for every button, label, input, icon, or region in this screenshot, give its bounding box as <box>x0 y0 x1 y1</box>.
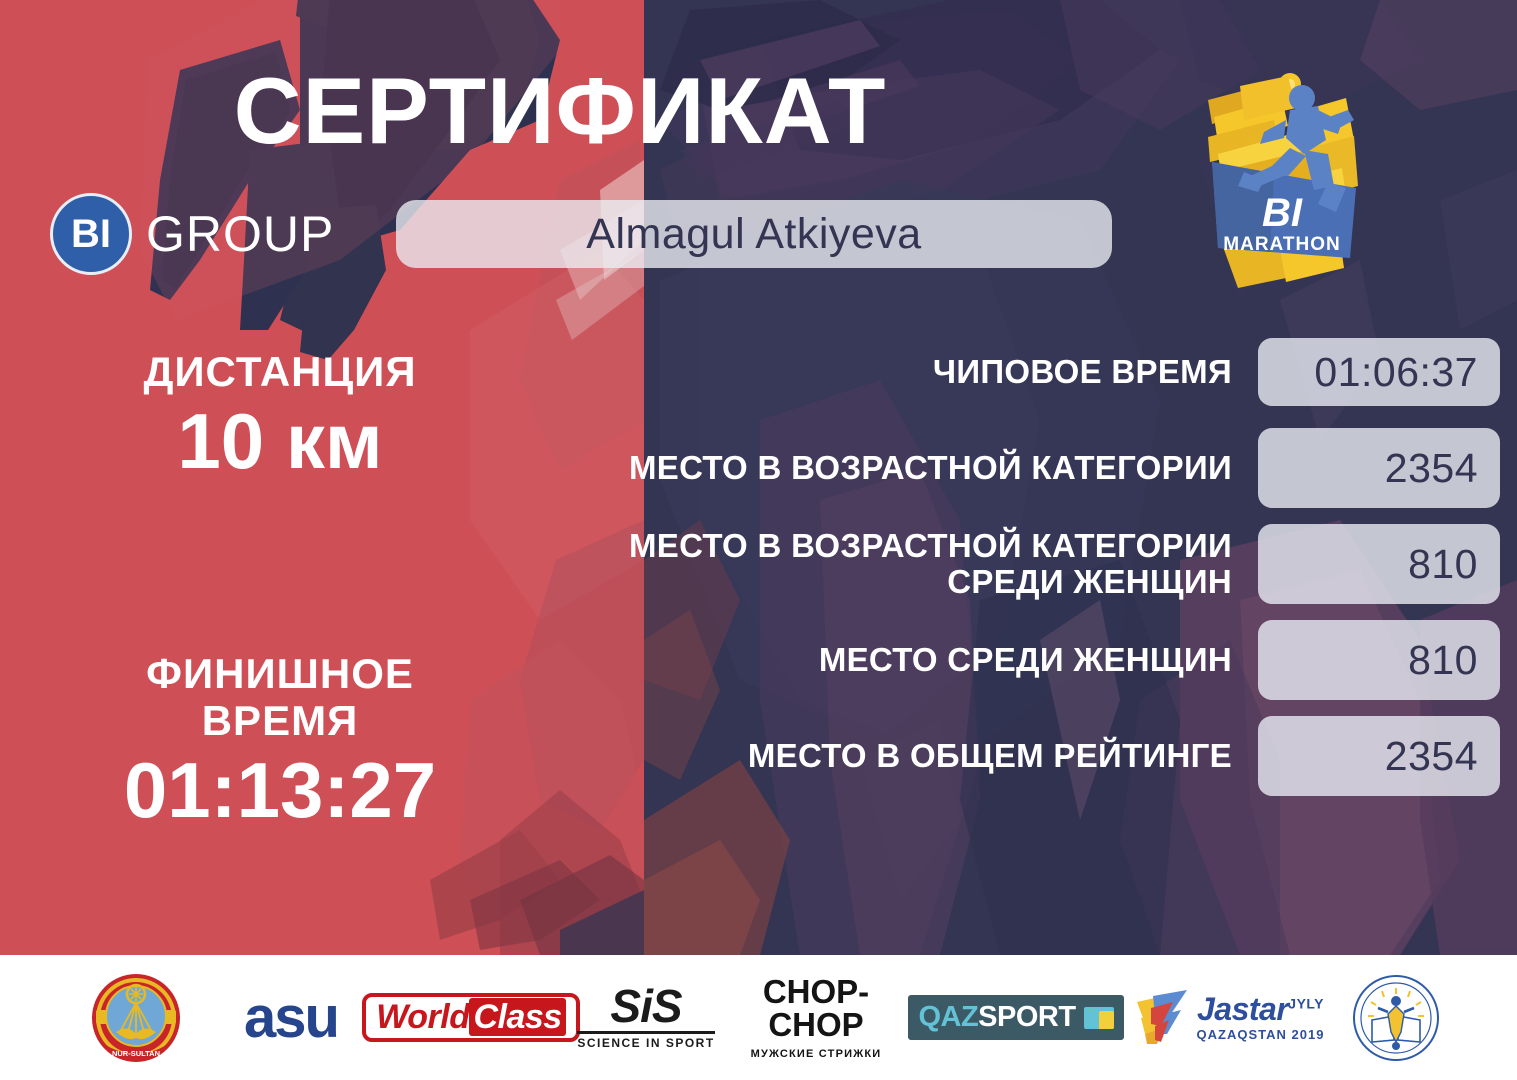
bi-group-logo: BI GROUP <box>50 193 334 275</box>
distance-value: 10 км <box>0 399 560 485</box>
finish-time-label-line2: ВРЕМЯ <box>0 697 560 744</box>
result-row-chip-time: ЧИПОВОЕ ВРЕМЯ 01:06:37 <box>560 338 1500 406</box>
result-label: ЧИПОВОЕ ВРЕМЯ <box>560 354 1258 390</box>
jastar-subtitle: QAZAQSTAN 2019 <box>1197 1027 1325 1042</box>
finish-time-label-line1: ФИНИШНОЕ <box>0 650 560 697</box>
sponsor-sis: SiS Science in Sport <box>571 968 721 1068</box>
sis-wordmark: SiS <box>577 985 714 1029</box>
jastar-superscript: JYLY <box>1288 995 1324 1011</box>
world-class-part2: Class <box>469 998 565 1036</box>
sponsor-world-class: WorldClass <box>371 968 571 1068</box>
sponsor-ministry-culture-sport <box>1336 968 1456 1068</box>
bi-badge-icon: BI <box>50 193 132 275</box>
distance-label: ДИСТАНЦИЯ <box>0 348 560 395</box>
result-rows: ЧИПОВОЕ ВРЕМЯ 01:06:37 МЕСТО В ВОЗРАСТНО… <box>560 338 1500 812</box>
bi-group-wordmark: GROUP <box>146 205 334 263</box>
jastar-mark-icon <box>1133 988 1191 1048</box>
result-row-age-category-women-place: МЕСТО В ВОЗРАСТНОЙ КАТЕГОРИИ СРЕДИ ЖЕНЩИ… <box>560 524 1500 604</box>
result-label: МЕСТО В ОБЩЕМ РЕЙТИНГЕ <box>560 738 1258 774</box>
participant-name-pill: Almagul Atkiyeva <box>396 200 1112 268</box>
result-value: 2354 <box>1258 716 1500 796</box>
result-label: МЕСТО СРЕДИ ЖЕНЩИН <box>560 642 1258 678</box>
finish-time-block: ФИНИШНОЕ ВРЕМЯ 01:13:27 <box>0 650 560 834</box>
result-value: 2354 <box>1258 428 1500 508</box>
result-value: 810 <box>1258 524 1500 604</box>
qazsport-part2: SPORT <box>978 1001 1075 1033</box>
sponsor-chop-chop: CHOP-CHOP МУЖСКИЕ СТРИЖКИ <box>721 968 911 1068</box>
result-label: МЕСТО В ВОЗРАСТНОЙ КАТЕГОРИИ <box>560 450 1258 486</box>
sponsor-bar: NUR-SULTAN asu WorldClass SiS Science in… <box>0 955 1517 1080</box>
distance-block: ДИСТАНЦИЯ 10 км <box>0 348 560 485</box>
sponsor-nur-sultan-emblem: NUR-SULTAN <box>61 968 211 1068</box>
result-value: 01:06:37 <box>1258 338 1500 406</box>
asu-wordmark: asu <box>244 989 338 1047</box>
sponsor-qazsport: QAZSPORT <box>911 968 1121 1068</box>
svg-text:MARATHON: MARATHON <box>1223 234 1340 255</box>
result-row-overall-place: МЕСТО В ОБЩЕМ РЕЙТИНГЕ 2354 <box>560 716 1500 796</box>
bi-marathon-logo: BI MARATHON <box>1178 62 1398 312</box>
qazsport-part1: QAZ <box>918 1001 978 1033</box>
certificate-card: СЕРТИФИКАТ BI GROUP Almagul Atkiyeva <box>0 0 1517 1080</box>
participant-name: Almagul Atkiyeva <box>586 210 921 259</box>
finish-time-value: 01:13:27 <box>0 748 560 834</box>
page-title: СЕРТИФИКАТ <box>0 62 1120 161</box>
chop-chop-tagline: МУЖСКИЕ СТРИЖКИ <box>721 1048 911 1060</box>
result-row-age-category-place: МЕСТО В ВОЗРАСТНОЙ КАТЕГОРИИ 2354 <box>560 428 1500 508</box>
world-class-part1: World <box>376 998 469 1036</box>
sis-tagline: Science in Sport <box>577 1031 714 1050</box>
result-label: МЕСТО В ВОЗРАСТНОЙ КАТЕГОРИИ СРЕДИ ЖЕНЩИ… <box>560 528 1258 601</box>
sponsor-jastar-jyly: JastarJYLY QAZAQSTAN 2019 <box>1121 968 1336 1068</box>
chop-chop-wordmark: CHOP-CHOP <box>721 975 911 1041</box>
jastar-wordmark: Jastar <box>1197 991 1288 1027</box>
sponsor-asu: asu <box>211 968 371 1068</box>
qazsport-flag-icon <box>1084 1007 1114 1029</box>
result-value: 810 <box>1258 620 1500 700</box>
svg-text:BI: BI <box>1262 191 1303 235</box>
result-row-women-place: МЕСТО СРЕДИ ЖЕНЩИН 810 <box>560 620 1500 700</box>
nur-sultan-label: NUR-SULTAN <box>112 1049 160 1058</box>
